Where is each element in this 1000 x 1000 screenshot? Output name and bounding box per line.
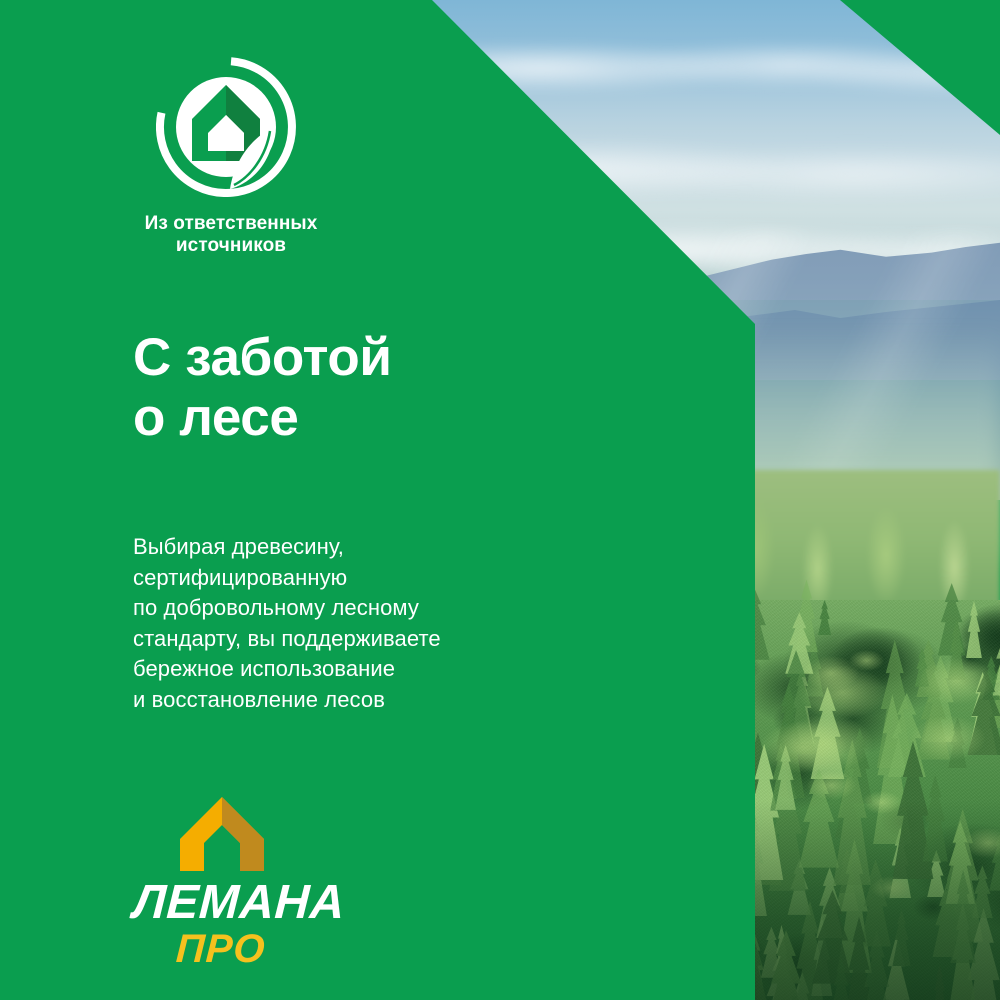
certification-badge-caption: Из ответственных источников	[133, 213, 329, 256]
house-leaf-circle-icon	[156, 57, 296, 197]
certification-badge: Из ответственных источников	[133, 57, 373, 256]
brand-name: ЛЕМАНА	[132, 879, 385, 927]
brand-lockup: ЛЕМАНА ПРО	[133, 795, 383, 969]
brand-sub: ПРО	[175, 929, 384, 969]
lemana-house-icon	[178, 795, 266, 873]
content-column: Из ответственных источников С заботой о …	[0, 0, 760, 1000]
body-paragraph: Выбирая древесину, сертифицированную по …	[133, 532, 441, 715]
poster-canvas: Из ответственных источников С заботой о …	[0, 0, 1000, 1000]
page-title: С заботой о лесе	[133, 328, 392, 448]
